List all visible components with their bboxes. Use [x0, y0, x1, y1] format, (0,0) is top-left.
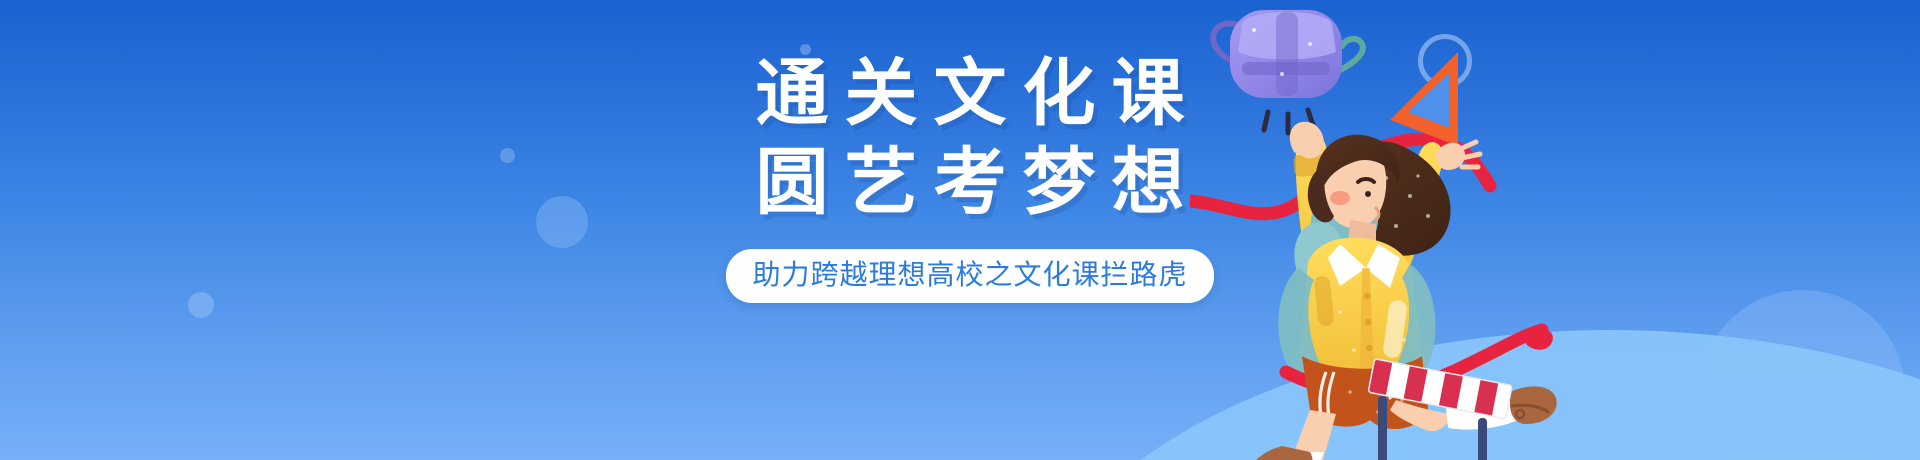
bubble-small-left [188, 292, 214, 318]
headline-line-1: 通关文化课 [690, 52, 1250, 137]
headline-line-2: 圆艺考梦想 [690, 141, 1250, 226]
promo-banner: 通关文化课 圆艺考梦想 助力跨越理想高校之文化课拦路虎 [0, 0, 1920, 460]
subtitle-text: 助力跨越理想高校之文化课拦路虎 [752, 259, 1187, 290]
banner-text-block: 通关文化课 圆艺考梦想 助力跨越理想高校之文化课拦路虎 [690, 52, 1250, 303]
subtitle-pill: 助力跨越理想高校之文化课拦路虎 [726, 249, 1213, 303]
bubble-small-mid [500, 148, 515, 163]
student-hurdler-illustration [1190, 0, 1660, 460]
bubble-medium-mid [536, 196, 588, 248]
